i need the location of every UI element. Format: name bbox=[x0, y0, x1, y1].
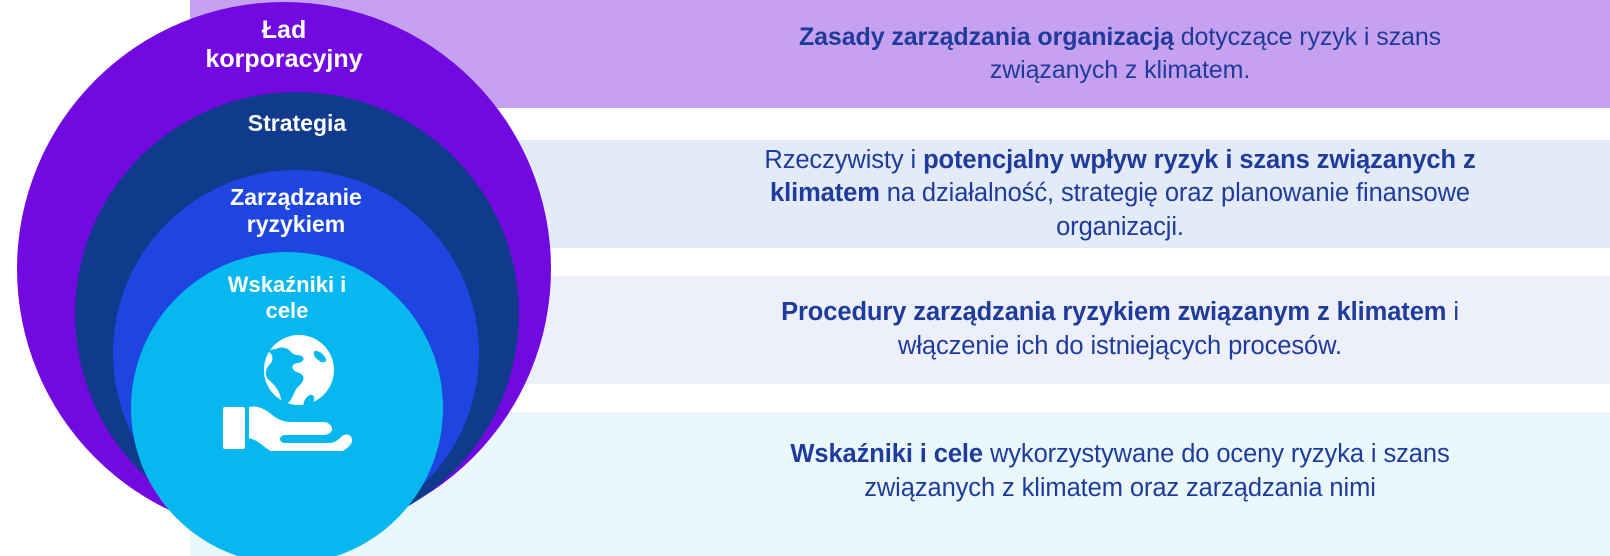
band-metrics-text: Wskaźniki i cele wykorzystywane do oceny… bbox=[750, 438, 1490, 505]
band-risk-bold: Procedury zarządzania ryzykiem związanym… bbox=[781, 298, 1446, 326]
globe-in-hand-icon bbox=[221, 333, 353, 451]
ring-metrics-label: Wskaźniki i cele bbox=[228, 272, 347, 323]
band-risk-text: Procedury zarządzania ryzykiem związanym… bbox=[750, 296, 1490, 363]
nested-circles: Ład korporacyjny Strategia Zarządzanie r… bbox=[0, 0, 580, 556]
tcfd-pillars-infographic: Zasady zarządzania organizacją dotyczące… bbox=[0, 0, 1610, 556]
band-strategy-prefix: Rzeczywisty i bbox=[764, 146, 923, 174]
band-metrics-bold: Wskaźniki i cele bbox=[790, 440, 983, 468]
band-strategy-text: Rzeczywisty i potencjalny wpływ ryzyk i … bbox=[750, 144, 1490, 245]
band-governance-bold: Zasady zarządzania organizacją bbox=[799, 23, 1174, 51]
band-strategy-rest: na działalność, strategię oraz planowani… bbox=[880, 179, 1470, 241]
ring-risk-label: Zarządzanie ryzykiem bbox=[230, 184, 362, 238]
ring-metrics: Wskaźniki i cele bbox=[131, 252, 443, 556]
ring-governance-label: Ład korporacyjny bbox=[205, 16, 362, 75]
ring-strategy-label: Strategia bbox=[248, 110, 346, 137]
band-governance-text: Zasady zarządzania organizacją dotyczące… bbox=[750, 21, 1490, 87]
